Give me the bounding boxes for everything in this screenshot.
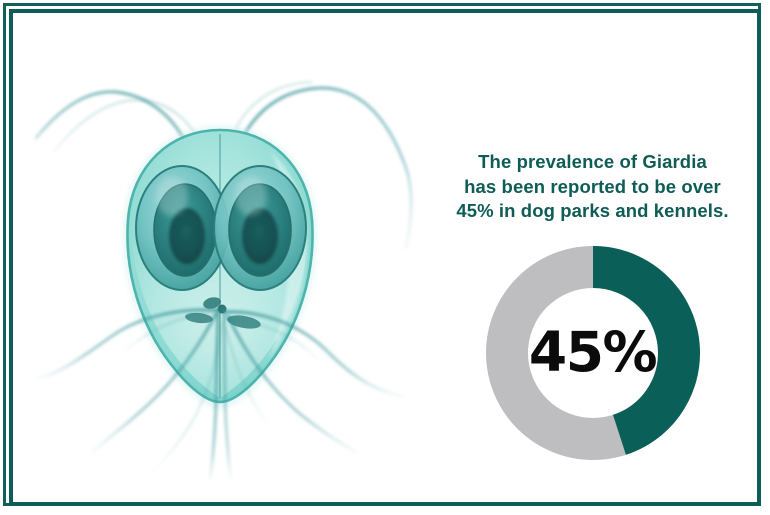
headline-line-2: has been reported to be over — [430, 175, 755, 200]
headline-line-1: The prevalence of Giardia — [430, 150, 755, 175]
stat-panel: The prevalence of Giardia has been repor… — [430, 150, 755, 460]
nucleus-right — [214, 166, 306, 290]
donut-chart: 45% — [486, 246, 700, 460]
donut-center-value: 45% — [486, 246, 700, 460]
giardia-illustration — [20, 60, 420, 480]
headline-text: The prevalence of Giardia has been repor… — [430, 150, 755, 224]
infographic-canvas: The prevalence of Giardia has been repor… — [0, 0, 770, 515]
headline-line-3: 45% in dog parks and kennels. — [430, 199, 755, 224]
